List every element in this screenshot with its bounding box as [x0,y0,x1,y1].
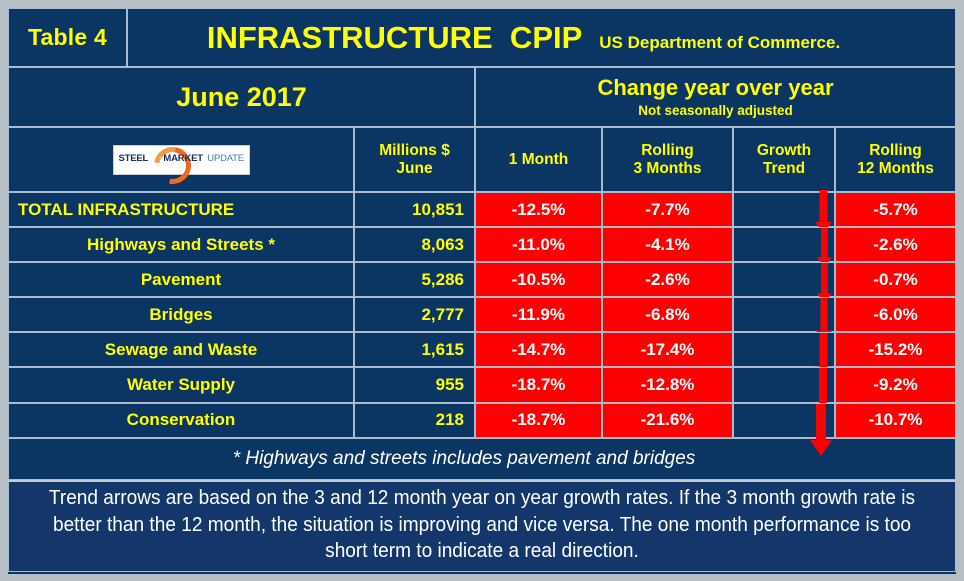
row-millions-value: 218 [354,403,475,438]
column-header-growth-trend: Growth Trend [733,127,835,192]
row-rolling-12-value: -15.2% [835,332,956,367]
table-body: TOTAL INFRASTRUCTURE10,851-12.5%-7.7%-5.… [8,192,956,438]
row-label: Water Supply [8,367,354,402]
row-rolling-12-value: -10.7% [835,403,956,438]
row-one-month-value: -12.5% [475,192,602,227]
rolling3-line2: 3 Months [633,160,701,177]
millions-line1: Millions $ [379,142,450,159]
one-month-label: 1 Month [509,151,568,168]
main-title-cell: INFRASTRUCTURE CPIP US Department of Com… [127,8,956,67]
millions-line2: June [396,160,432,177]
row-millions-value: 1,615 [354,332,475,367]
row-label: Bridges [8,297,354,332]
row-one-month-value: -18.7% [475,403,602,438]
logo-swoosh-icon [146,139,198,191]
period-cell: June 2017 [8,67,475,127]
rolling12-line1: Rolling [869,142,922,159]
table-row: TOTAL INFRASTRUCTURE10,851-12.5%-7.7%-5.… [8,192,956,227]
row-millions-value: 10,851 [354,192,475,227]
table-number-label: Table 4 [28,24,107,51]
footnote-text: * Highways and streets includes pavement… [233,448,696,470]
row-growth-trend-cell [733,192,835,227]
row-one-month-value: -11.0% [475,227,602,262]
row-label: Conservation [8,403,354,438]
row-millions-value: 955 [354,367,475,402]
row-rolling-12-value: -6.0% [835,297,956,332]
row-millions-value: 2,777 [354,297,475,332]
change-group-note: Not seasonally adjusted [638,104,793,118]
table-row: Highways and Streets *8,063-11.0%-4.1%-2… [8,227,956,262]
period-label: June 2017 [176,82,307,113]
row-one-month-value: -14.7% [475,332,602,367]
table-row: Bridges2,777-11.9%-6.8%-6.0% [8,297,956,332]
table-row: Conservation218-18.7%-21.6%-10.7% [8,403,956,438]
bottom-note-row: Trend arrows are based on the 3 and 12 m… [8,480,956,572]
logo-word-market: MARKET [163,153,202,164]
logo-word-update: UPDATE [207,153,244,164]
row-rolling-3-value: -17.4% [602,332,733,367]
row-growth-trend-cell [733,297,835,332]
row-rolling-3-value: -2.6% [602,262,733,297]
row-label: TOTAL INFRASTRUCTURE [8,192,354,227]
steel-market-update-logo-icon: STEEL MARKET UPDATE [113,145,250,175]
change-group-label: Change year over year [597,76,833,99]
row-growth-trend-cell [733,367,835,402]
row-label: Sewage and Waste [8,332,354,367]
page-title: INFRASTRUCTURE CPIP [207,20,582,56]
row-label: Pavement [8,262,354,297]
table-row: Sewage and Waste1,615-14.7%-17.4%-15.2% [8,332,956,367]
bottom-note-text: Trend arrows are based on the 3 and 12 m… [48,485,917,565]
row-rolling-12-value: -2.6% [835,227,956,262]
row-millions-value: 8,063 [354,227,475,262]
title-row: Table 4 INFRASTRUCTURE CPIP US Departmen… [8,8,956,67]
column-header-rolling-12: Rolling 12 Months [835,127,956,192]
logo-word-steel: STEEL [119,153,148,164]
row-growth-trend-cell [733,262,835,297]
row-one-month-value: -10.5% [475,262,602,297]
table-container: Table 4 INFRASTRUCTURE CPIP US Departmen… [8,8,956,574]
column-header-row: STEEL MARKET UPDATE Millions $ June 1 Mo… [8,127,956,192]
row-rolling-3-value: -12.8% [602,367,733,402]
column-header-one-month: 1 Month [475,127,602,192]
column-header-millions: Millions $ June [354,127,475,192]
title-source: US Department of Commerce. [599,33,840,53]
change-group-cell: Change year over year Not seasonally adj… [475,67,956,127]
row-rolling-3-value: -4.1% [602,227,733,262]
table-row: Water Supply955-18.7%-12.8%-9.2% [8,367,956,402]
growth-line2: Trend [763,160,805,177]
growth-line1: Growth [757,142,811,159]
rolling3-line1: Rolling [641,142,694,159]
row-one-month-value: -18.7% [475,367,602,402]
table-row: Pavement5,286-10.5%-2.6%-0.7% [8,262,956,297]
row-rolling-3-value: -7.7% [602,192,733,227]
row-label: Highways and Streets * [8,227,354,262]
row-rolling-3-value: -21.6% [602,403,733,438]
row-millions-value: 5,286 [354,262,475,297]
rolling12-line2: 12 Months [857,160,934,177]
row-rolling-3-value: -6.8% [602,297,733,332]
row-one-month-value: -11.9% [475,297,602,332]
logo-cell: STEEL MARKET UPDATE [8,127,354,192]
column-header-rolling-3: Rolling 3 Months [602,127,733,192]
down-arrow-icon [810,404,832,456]
row-growth-trend-cell [733,227,835,262]
subheader-row: June 2017 Change year over year Not seas… [8,67,956,127]
row-rolling-12-value: -5.7% [835,192,956,227]
row-growth-trend-cell [733,403,835,438]
row-rolling-12-value: -9.2% [835,367,956,402]
row-rolling-12-value: -0.7% [835,262,956,297]
row-growth-trend-cell [733,332,835,367]
table-number-cell: Table 4 [8,8,127,67]
